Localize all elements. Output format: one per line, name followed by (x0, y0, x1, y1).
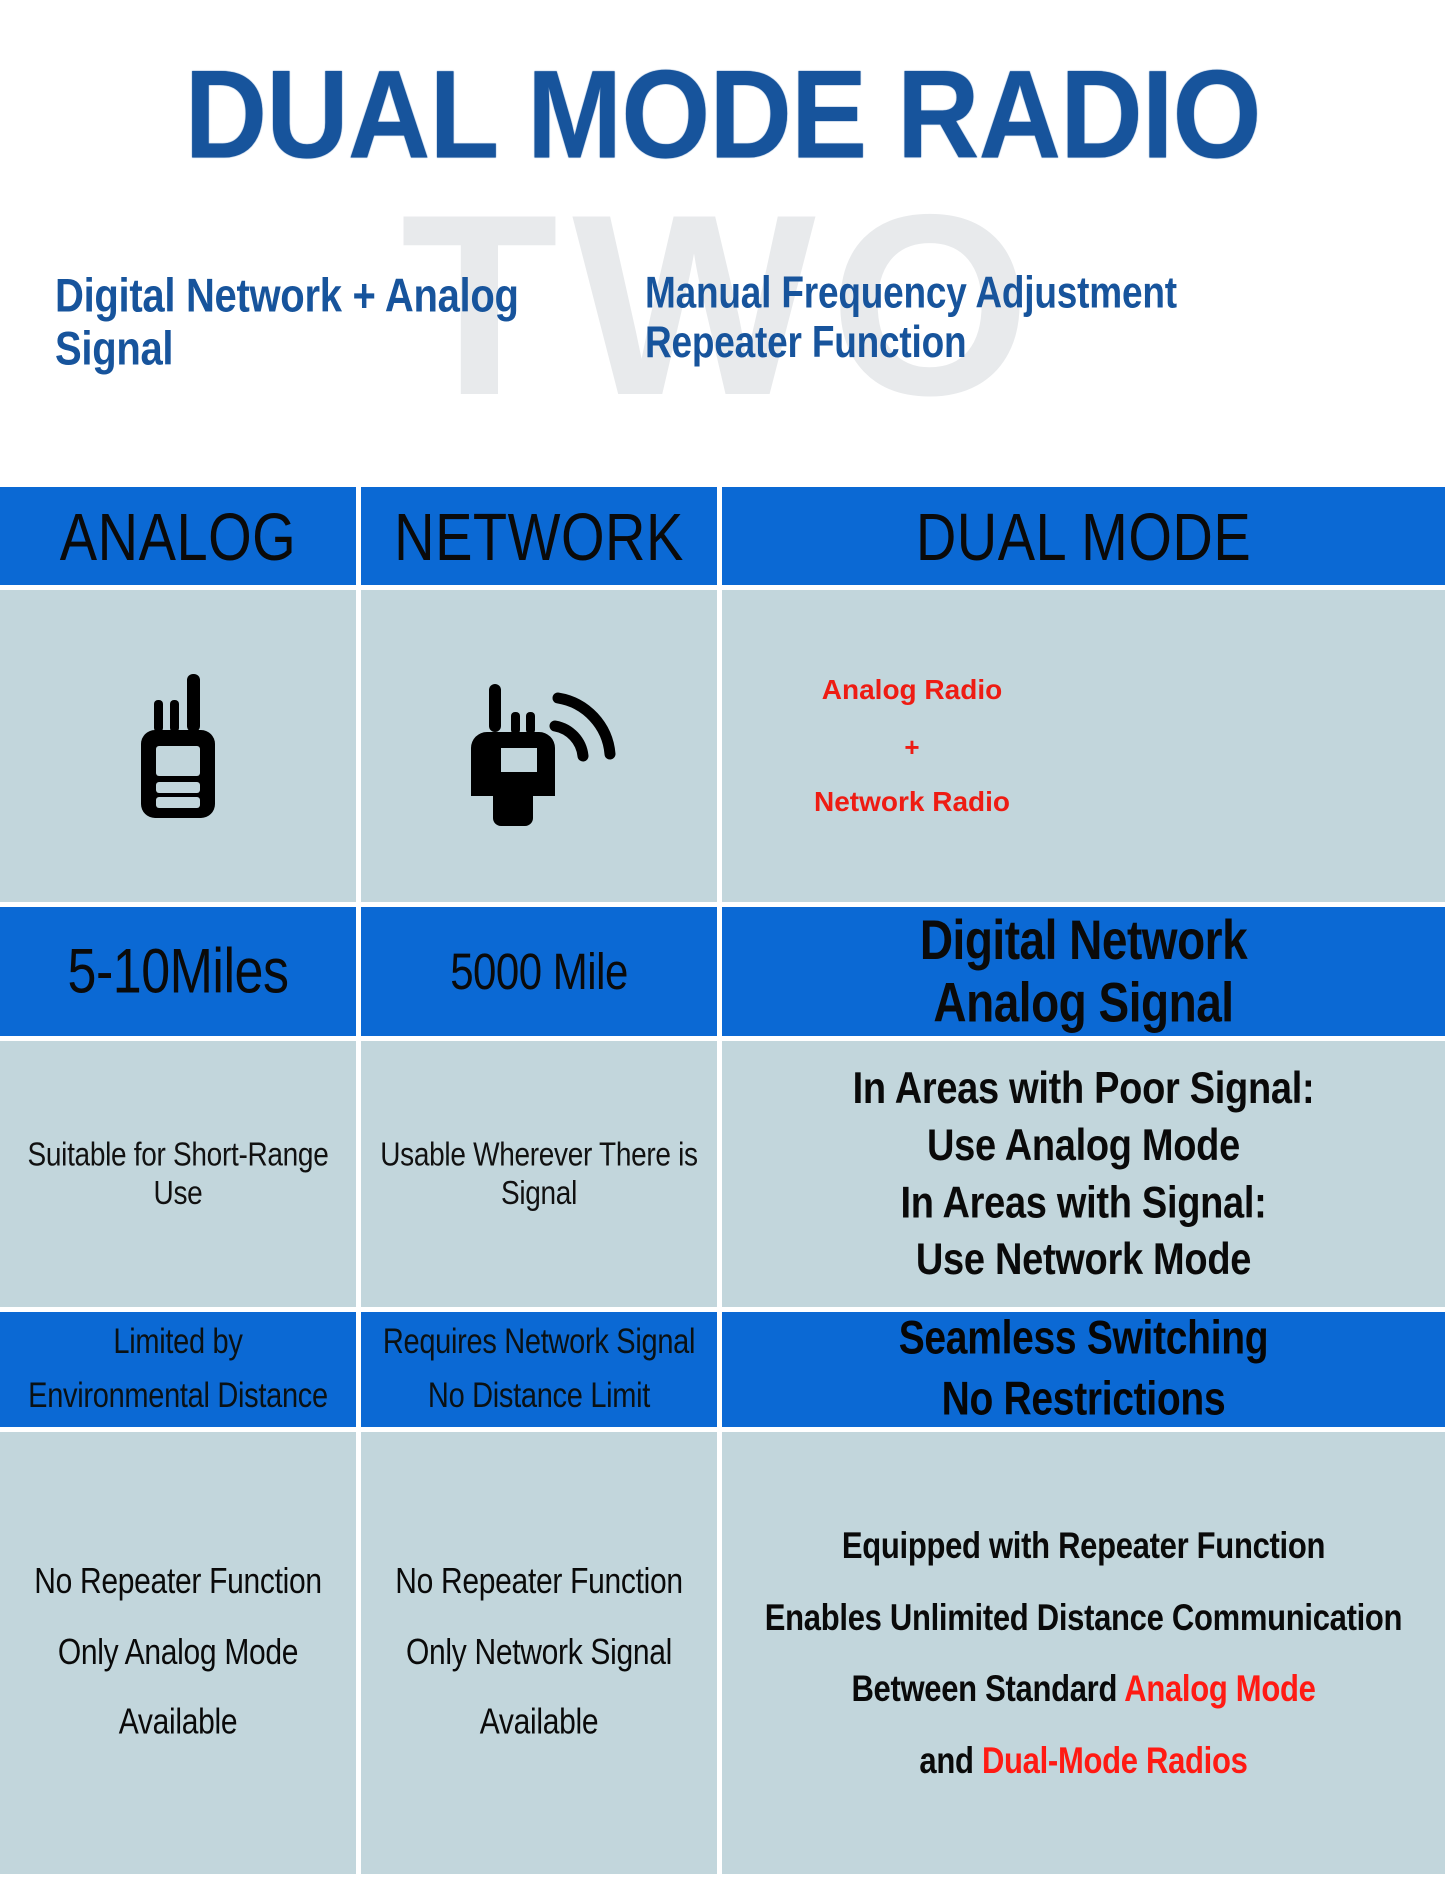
repeater-dual-line-4-accent: Dual-Mode Radios (982, 1739, 1248, 1781)
repeater-analog-line-2: Only Analog Mode Available (58, 1632, 298, 1742)
walkie-talkie-icon (123, 666, 233, 826)
repeater-analog-line-1: No Repeater Function (34, 1562, 322, 1602)
limit-network-text: Requires Network Signal No Distance Limi… (383, 1316, 695, 1424)
range-cell-dual: Digital Network Analog Signal (722, 907, 1445, 1041)
repeater-network-text: No Repeater Function Only Network Signal… (361, 1548, 717, 1759)
icon-cell-analog (0, 590, 361, 907)
dual-label-analog-radio: Analog Radio (762, 676, 1062, 704)
range-cell-analog: 5-10Miles (0, 907, 361, 1041)
usage-cell-network: Usable Wherever There is Signal (361, 1041, 722, 1312)
range-dual-line-1: Digital Network (920, 909, 1247, 971)
subtitle-right: Manual Frequency Adjustment Repeater Fun… (645, 268, 1205, 367)
limit-analog-text: Limited by Environmental Distance (28, 1316, 328, 1424)
limit-cell-dual: Seamless Switching No Restrictions (722, 1312, 1445, 1432)
column-header-network: NETWORK (361, 487, 722, 590)
range-dual-line-2: Analog Signal (933, 972, 1233, 1034)
repeater-cell-dual: Equipped with Repeater Function Enables … (722, 1432, 1445, 1879)
limit-dual-line-2: No Restrictions (942, 1373, 1226, 1425)
usage-cell-dual: In Areas with Poor Signal: Use Analog Mo… (722, 1041, 1445, 1312)
limit-dual-line-1: Seamless Switching (899, 1312, 1269, 1364)
comparison-table: ANALOG NETWORK DUAL MODE (0, 487, 1445, 1879)
repeater-network-line-2: Only Network Signal Available (406, 1632, 672, 1742)
dual-label-plus: + (762, 734, 1062, 760)
limit-cell-network: Requires Network Signal No Distance Limi… (361, 1312, 722, 1432)
usage-dual-text: In Areas with Poor Signal: Use Analog Mo… (853, 1060, 1315, 1288)
column-header-dual-mode-label: DUAL MODE (916, 497, 1251, 575)
limit-analog-line-1: Limited by (113, 1323, 242, 1361)
range-analog-value: 5-10Miles (68, 935, 289, 1008)
repeater-network-line-1: No Repeater Function (395, 1562, 683, 1602)
usage-dual-line-3: In Areas with Signal: (900, 1178, 1266, 1228)
range-network-value: 5000 Mile (450, 942, 628, 1001)
dual-mode-labels: Analog Radio + Network Radio (762, 676, 1062, 816)
repeater-dual-line-2: Enables Unlimited Distance Communication (765, 1596, 1402, 1638)
icon-cell-dual-mode: Analog Radio + Network Radio (722, 590, 1445, 907)
range-cell-network: 5000 Mile (361, 907, 722, 1041)
walkie-talkie-signal-icon (459, 666, 619, 826)
repeater-cell-network: No Repeater Function Only Network Signal… (361, 1432, 722, 1879)
page-title: DUAL MODE RADIO (0, 52, 1445, 177)
column-header-network-label: NETWORK (394, 497, 684, 575)
usage-dual-line-2: Use Analog Mode (927, 1121, 1240, 1171)
hero-header: TWO DUAL MODE RADIO Digital Network + An… (0, 0, 1445, 487)
column-header-analog-label: ANALOG (60, 497, 296, 575)
usage-network-text: Usable Wherever There is Signal (361, 1136, 717, 1213)
column-header-analog: ANALOG (0, 487, 361, 590)
repeater-dual-line-3-prefix: Between Standard (851, 1667, 1124, 1709)
usage-analog-text: Suitable for Short-Range Use (0, 1136, 356, 1213)
subtitle-left: Digital Network + Analog Signal (55, 270, 625, 376)
range-dual-value: Digital Network Analog Signal (920, 909, 1247, 1035)
limit-network-line-2: No Distance Limit (428, 1377, 650, 1415)
repeater-dual-text: Equipped with Repeater Function Enables … (765, 1510, 1402, 1796)
usage-dual-line-1: In Areas with Poor Signal: (853, 1064, 1315, 1114)
limit-network-line-1: Requires Network Signal (383, 1323, 695, 1361)
repeater-cell-analog: No Repeater Function Only Analog Mode Av… (0, 1432, 361, 1879)
usage-dual-line-4: Use Network Mode (916, 1234, 1251, 1284)
limit-dual-text: Seamless Switching No Restrictions (899, 1309, 1269, 1431)
repeater-dual-line-3-accent: Analog Mode (1124, 1667, 1315, 1709)
repeater-dual-line-1: Equipped with Repeater Function (842, 1525, 1325, 1567)
limit-analog-line-2: Environmental Distance (28, 1377, 328, 1415)
usage-cell-analog: Suitable for Short-Range Use (0, 1041, 361, 1312)
repeater-analog-text: No Repeater Function Only Analog Mode Av… (0, 1548, 356, 1759)
column-header-dual-mode: DUAL MODE (722, 487, 1445, 590)
icon-cell-network (361, 590, 722, 907)
dual-label-network-radio: Network Radio (762, 788, 1062, 816)
repeater-dual-line-4-prefix: and (919, 1739, 982, 1781)
subtitle-right-line-2: Repeater Function (645, 318, 1205, 368)
limit-cell-analog: Limited by Environmental Distance (0, 1312, 361, 1432)
subtitle-right-line-1: Manual Frequency Adjustment (645, 268, 1205, 318)
